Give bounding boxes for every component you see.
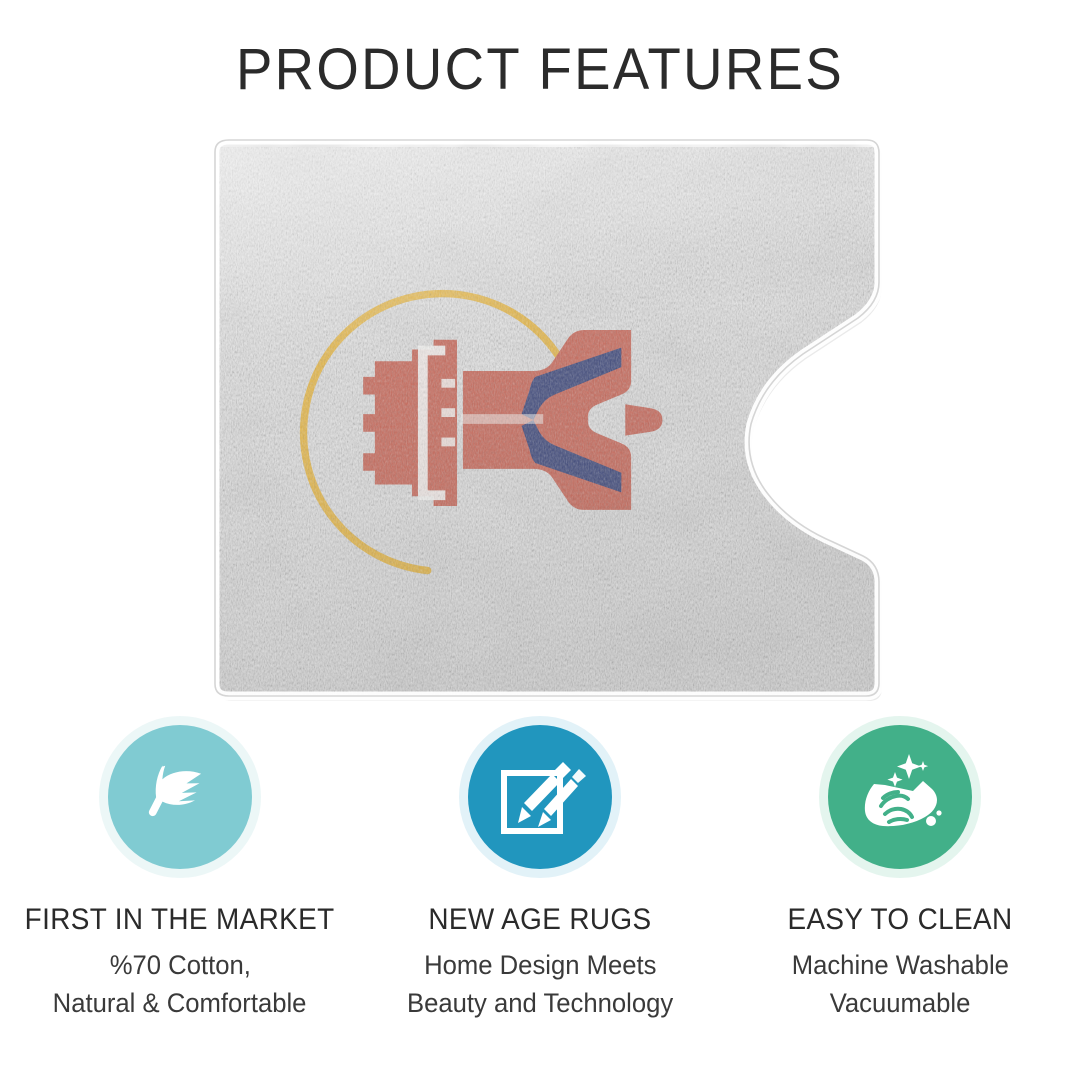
mat-pile <box>212 141 885 701</box>
feature-title: EASY TO CLEAN <box>787 902 1012 938</box>
feather-icon-badge <box>99 716 261 878</box>
feature-item-first-in-the-market: FIRST IN THE MARKET %70 Cotton, Natural … <box>0 712 360 1022</box>
feature-subtitle-line-2: Vacuumable <box>830 984 971 1022</box>
product-image <box>0 118 1080 708</box>
feature-subtitle-line-2: Natural & Comfortable <box>53 984 307 1022</box>
feature-list: FIRST IN THE MARKET %70 Cotton, Natural … <box>0 712 1080 1080</box>
feature-subtitle-line-1: Home Design Meets <box>424 946 656 984</box>
feature-item-easy-to-clean: EASY TO CLEAN Machine Washable Vacuumabl… <box>720 712 1080 1022</box>
feather-icon <box>132 749 228 845</box>
feature-title: FIRST IN THE MARKET <box>25 902 335 938</box>
feature-subtitle-line-2: Beauty and Technology <box>407 984 673 1022</box>
brush-and-pencil-icon <box>494 751 586 843</box>
page-title: PRODUCT FEATURES <box>32 36 1047 104</box>
cleaning-hand-sparkle-icon <box>851 750 949 844</box>
contour-bath-mat <box>203 132 893 704</box>
feature-item-new-age-rugs: NEW AGE RUGS Home Design Meets Beauty an… <box>360 712 720 1022</box>
cleaning-hand-sparkle-icon-badge <box>819 716 981 878</box>
feature-subtitle-line-1: %70 Cotton, <box>109 946 250 984</box>
bath-mat-illustration <box>203 132 893 704</box>
feature-title: NEW AGE RUGS <box>428 902 651 938</box>
brush-and-pencil-icon-badge <box>459 716 621 878</box>
feature-subtitle-line-1: Machine Washable <box>791 946 1008 984</box>
